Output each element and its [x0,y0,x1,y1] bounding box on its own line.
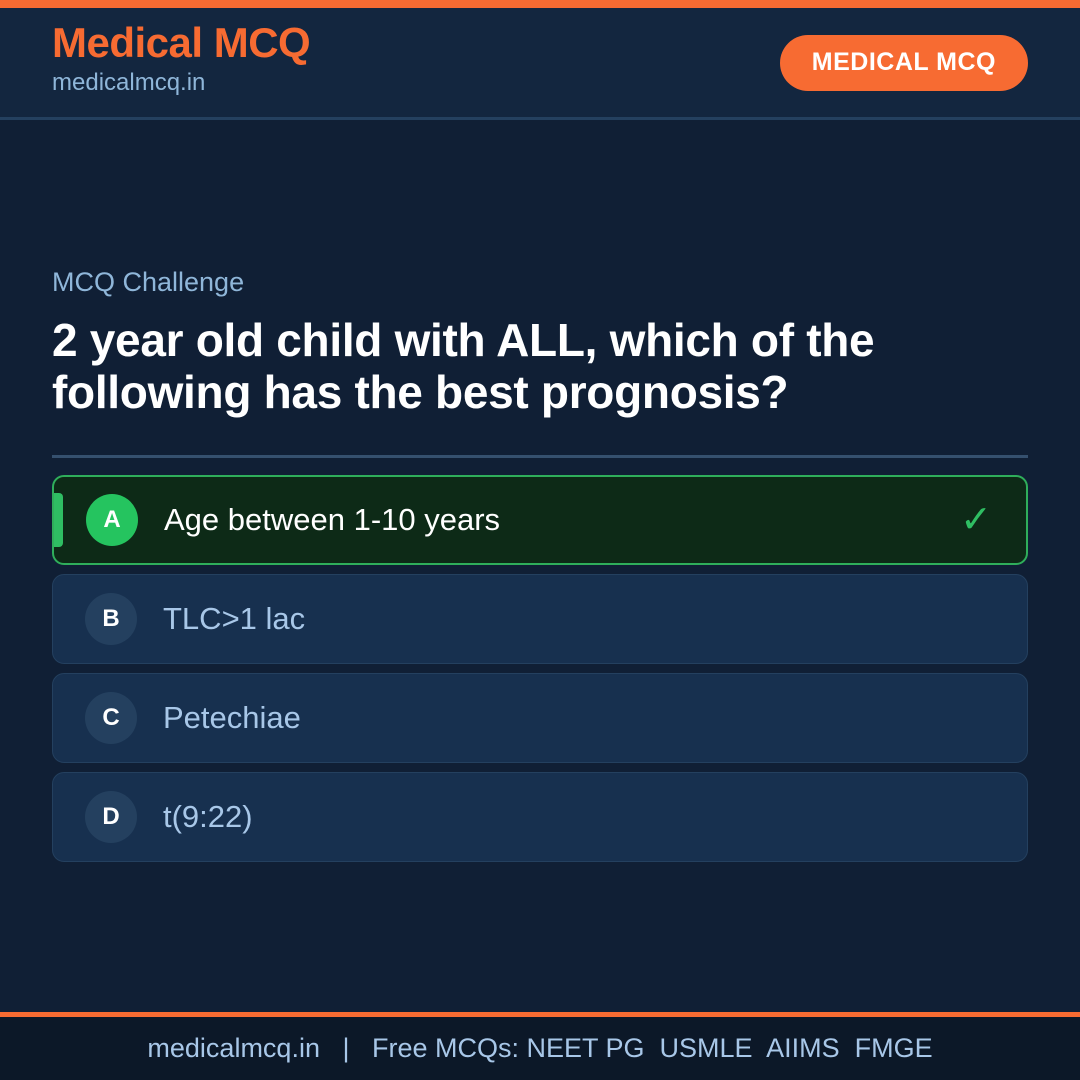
option-c-letter: C [85,692,137,744]
question-divider [52,455,1028,458]
option-d-label: t(9:22) [163,800,253,834]
question-text: 2 year old child with ALL, which of the … [52,314,992,419]
correct-accent-bar [54,493,63,547]
option-c-label: Petechiae [163,701,301,735]
brand-subtitle: medicalmcq.in [52,67,310,99]
header-badge[interactable]: MEDICAL MCQ [780,35,1028,91]
app-footer: medicalmcq.in | Free MCQs: NEET PG USMLE… [0,1012,1080,1080]
option-c[interactable]: C Petechiae [52,673,1028,763]
option-b-letter: B [85,593,137,645]
option-d[interactable]: D t(9:22) [52,772,1028,862]
check-icon: ✓ [960,501,992,539]
options-list: A Age between 1-10 years ✓ B TLC>1 lac C… [52,475,1028,862]
option-a-letter: A [86,494,138,546]
option-a-label: Age between 1-10 years [164,503,500,537]
option-b[interactable]: B TLC>1 lac [52,574,1028,664]
top-accent-bar [0,0,1080,8]
option-d-letter: D [85,791,137,843]
app-header: Medical MCQ medicalmcq.in MEDICAL MCQ [0,8,1080,120]
kicker-label: MCQ Challenge [52,268,1028,298]
footer-text: medicalmcq.in | Free MCQs: NEET PG USMLE… [147,1035,932,1062]
brand-block: Medical MCQ medicalmcq.in [52,21,310,99]
option-b-label: TLC>1 lac [163,602,305,636]
brand-title: Medical MCQ [52,21,310,65]
main-content: MCQ Challenge 2 year old child with ALL,… [0,268,1080,862]
option-a[interactable]: A Age between 1-10 years ✓ [52,475,1028,565]
